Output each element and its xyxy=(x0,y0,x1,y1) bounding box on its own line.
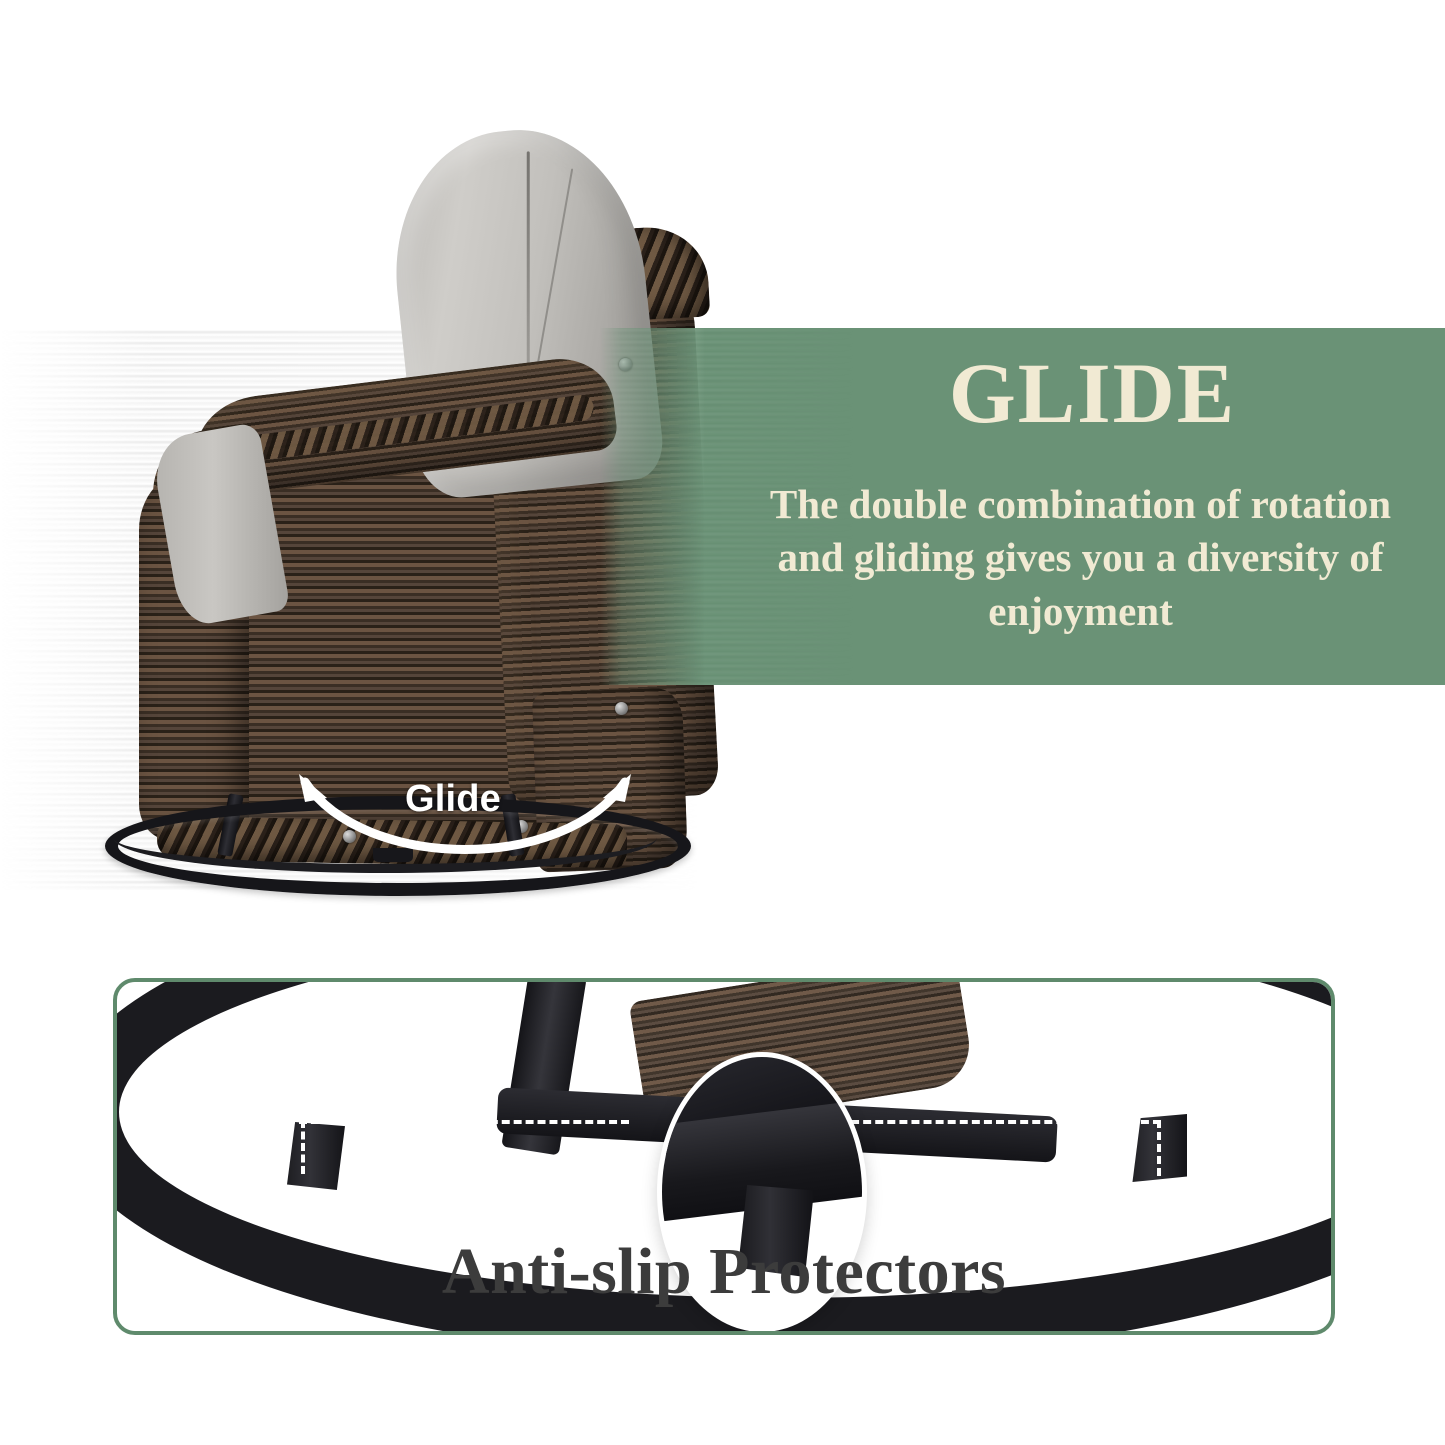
top-feature-section: Glide GLIDE The double combination of ro… xyxy=(0,0,1445,930)
base-foot-nub xyxy=(373,848,413,862)
swivel-base-closeup-image xyxy=(117,982,1331,1232)
anti-slip-foot-left xyxy=(287,1122,345,1190)
callout-dash-line xyxy=(1157,1120,1161,1176)
base-ring-inner-shadow xyxy=(113,802,657,873)
callout-dash-line xyxy=(299,1120,629,1124)
panel-body-text: The double combination of rotation and g… xyxy=(600,478,1445,638)
anti-slip-heading: Anti-slip Protectors xyxy=(117,1234,1331,1310)
panel-heading-glide: GLIDE xyxy=(600,350,1445,436)
callout-dash-line xyxy=(839,1120,1161,1124)
callout-dash-line xyxy=(301,1120,305,1174)
swivel-base xyxy=(105,790,665,870)
anti-slip-feature-panel: Anti-slip Protectors xyxy=(113,978,1335,1335)
green-feature-panel: GLIDE The double combination of rotation… xyxy=(600,328,1445,685)
frame-bolt xyxy=(615,702,628,715)
